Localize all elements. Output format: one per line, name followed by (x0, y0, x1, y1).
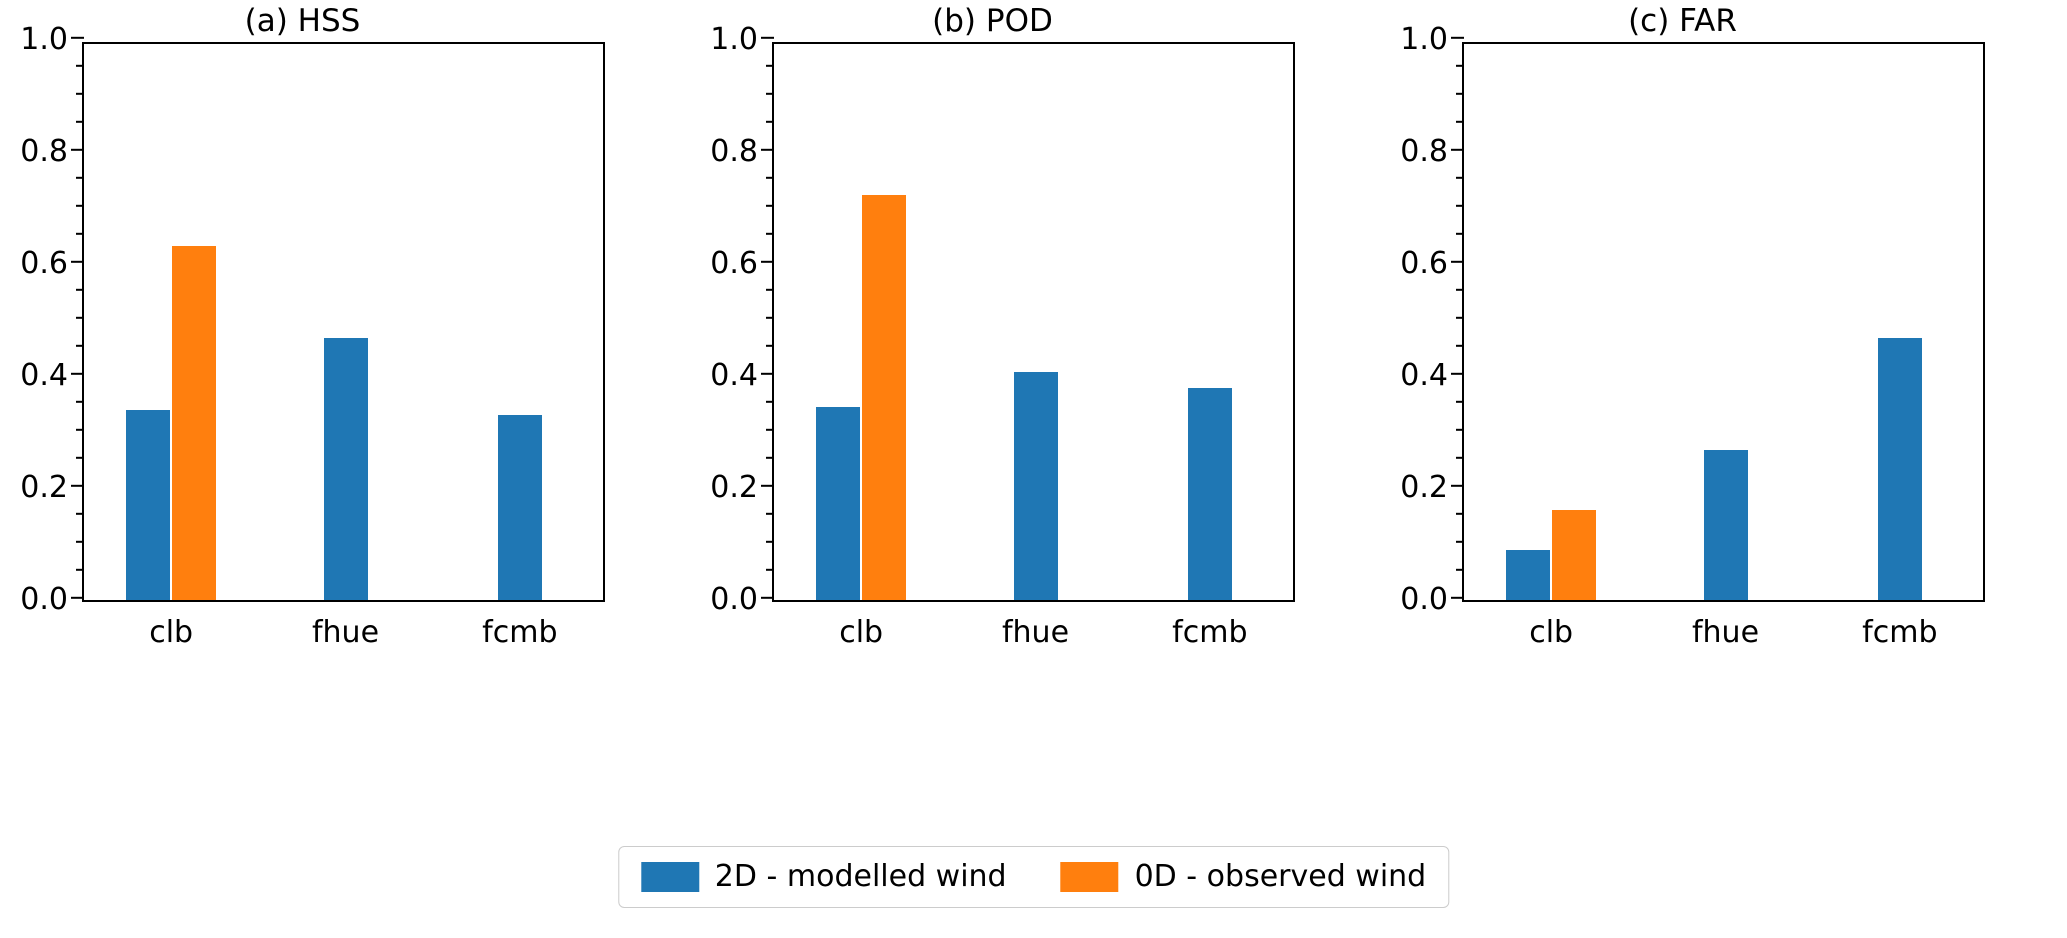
y-axis-minor-tick (766, 344, 774, 346)
y-axis-minor-tick (766, 568, 774, 570)
legend-swatch-icon (641, 862, 699, 892)
y-axis-tick-label: 1.0 (710, 25, 774, 55)
y-axis-tick-label: 0.0 (710, 585, 774, 615)
y-axis-minor-tick (76, 344, 84, 346)
y-axis-minor-tick (766, 176, 774, 178)
y-axis-minor-tick (1456, 64, 1464, 66)
x-axis-tick-label: fhue (312, 616, 379, 650)
legend-label: 0D - observed wind (1135, 860, 1427, 894)
y-axis-minor-tick (766, 64, 774, 66)
y-axis-minor-tick (1456, 540, 1464, 542)
y-axis-minor-tick (766, 288, 774, 290)
y-axis-minor-tick (76, 428, 84, 430)
plot-area: 0.00.20.40.60.81.0clbfhuefcmb (82, 42, 605, 602)
y-axis-minor-tick (1456, 176, 1464, 178)
y-axis-tick-label: 0.4 (710, 361, 774, 391)
y-axis-minor-tick (76, 540, 84, 542)
y-axis-tick-label: 1.0 (20, 25, 84, 55)
y-axis-tick-label: 0.2 (20, 473, 84, 503)
y-axis-minor-tick (1456, 456, 1464, 458)
x-axis-tick-label: fcmb (1172, 616, 1247, 650)
y-axis-minor-tick (766, 92, 774, 94)
y-axis-minor-tick (76, 456, 84, 458)
y-axis-tick-label: 0.8 (710, 137, 774, 167)
y-axis-minor-tick (1456, 344, 1464, 346)
y-axis-minor-tick (76, 400, 84, 402)
y-axis-minor-tick (1456, 316, 1464, 318)
y-axis-minor-tick (1456, 288, 1464, 290)
y-axis-minor-tick (766, 456, 774, 458)
legend-label: 2D - modelled wind (715, 860, 1007, 894)
x-axis-tick-label: clb (839, 616, 883, 650)
plot-area: 0.00.20.40.60.81.0clbfhuefcmb (772, 42, 1295, 602)
figure-canvas: (a) HSS0.00.20.40.60.81.0clbfhuefcmb(b) … (0, 0, 2067, 938)
y-axis-tick-label: 0.0 (1400, 585, 1464, 615)
bar-clb-series2 (1552, 510, 1596, 600)
y-axis-minor-tick (76, 568, 84, 570)
bar-clb-series1 (816, 407, 860, 600)
y-axis-tick-label: 1.0 (1400, 25, 1464, 55)
y-axis-tick-label: 0.8 (20, 137, 84, 167)
chart-panel-1: (a) HSS0.00.20.40.60.81.0clbfhuefcmb (0, 0, 605, 640)
y-axis-minor-tick (1456, 92, 1464, 94)
y-axis-minor-tick (76, 120, 84, 122)
y-axis-minor-tick (766, 428, 774, 430)
bar-clb-series1 (126, 410, 170, 600)
y-axis-minor-tick (766, 204, 774, 206)
chart-panel-3: (c) FAR0.00.20.40.60.81.0clbfhuefcmb (1380, 0, 1985, 640)
legend-entry-1[interactable]: 2D - modelled wind (641, 860, 1007, 894)
x-axis-tick-label: fhue (1002, 616, 1069, 650)
y-axis-tick-label: 0.8 (1400, 137, 1464, 167)
y-axis-minor-tick (76, 316, 84, 318)
plot-area: 0.00.20.40.60.81.0clbfhuefcmb (1462, 42, 1985, 602)
y-axis-minor-tick (76, 64, 84, 66)
chart-legend: 2D - modelled wind0D - observed wind (618, 846, 1449, 908)
y-axis-tick-label: 0.6 (710, 249, 774, 279)
y-axis-minor-tick (766, 540, 774, 542)
y-axis-tick-label: 0.2 (710, 473, 774, 503)
bar-clb-series1 (1506, 550, 1550, 600)
y-axis-tick-label: 0.2 (1400, 473, 1464, 503)
y-axis-minor-tick (1456, 120, 1464, 122)
bar-fcmb-series1 (1188, 388, 1232, 600)
y-axis-tick-label: 0.6 (20, 249, 84, 279)
bar-fhue-series1 (324, 338, 368, 600)
y-axis-minor-tick (76, 176, 84, 178)
y-axis-minor-tick (766, 400, 774, 402)
y-axis-minor-tick (76, 92, 84, 94)
y-axis-minor-tick (1456, 568, 1464, 570)
x-axis-tick-label: clb (149, 616, 193, 650)
x-axis-tick-label: clb (1529, 616, 1573, 650)
chart-panel-2: (b) POD0.00.20.40.60.81.0clbfhuefcmb (690, 0, 1295, 640)
y-axis-minor-tick (76, 288, 84, 290)
y-axis-minor-tick (766, 120, 774, 122)
bar-fcmb-series1 (498, 415, 542, 600)
x-axis-tick-label: fhue (1692, 616, 1759, 650)
y-axis-minor-tick (766, 512, 774, 514)
legend-entry-2[interactable]: 0D - observed wind (1061, 860, 1427, 894)
y-axis-minor-tick (1456, 428, 1464, 430)
y-axis-tick-label: 0.4 (1400, 361, 1464, 391)
x-axis-tick-label: fcmb (1862, 616, 1937, 650)
y-axis-minor-tick (76, 232, 84, 234)
y-axis-minor-tick (1456, 232, 1464, 234)
bar-fhue-series1 (1014, 372, 1058, 600)
panel-title: (a) HSS (0, 2, 605, 40)
y-axis-minor-tick (1456, 400, 1464, 402)
y-axis-minor-tick (1456, 512, 1464, 514)
legend-swatch-icon (1061, 862, 1119, 892)
bar-clb-series2 (172, 246, 216, 600)
y-axis-minor-tick (76, 512, 84, 514)
x-axis-tick-label: fcmb (482, 616, 557, 650)
bar-fhue-series1 (1704, 450, 1748, 600)
y-axis-tick-label: 0.4 (20, 361, 84, 391)
y-axis-tick-label: 0.0 (20, 585, 84, 615)
panel-title: (b) POD (690, 2, 1295, 40)
panel-title: (c) FAR (1380, 2, 1985, 40)
bar-fcmb-series1 (1878, 338, 1922, 600)
y-axis-minor-tick (76, 204, 84, 206)
bar-clb-series2 (862, 195, 906, 600)
y-axis-minor-tick (766, 316, 774, 318)
y-axis-tick-label: 0.6 (1400, 249, 1464, 279)
y-axis-minor-tick (1456, 204, 1464, 206)
y-axis-minor-tick (766, 232, 774, 234)
